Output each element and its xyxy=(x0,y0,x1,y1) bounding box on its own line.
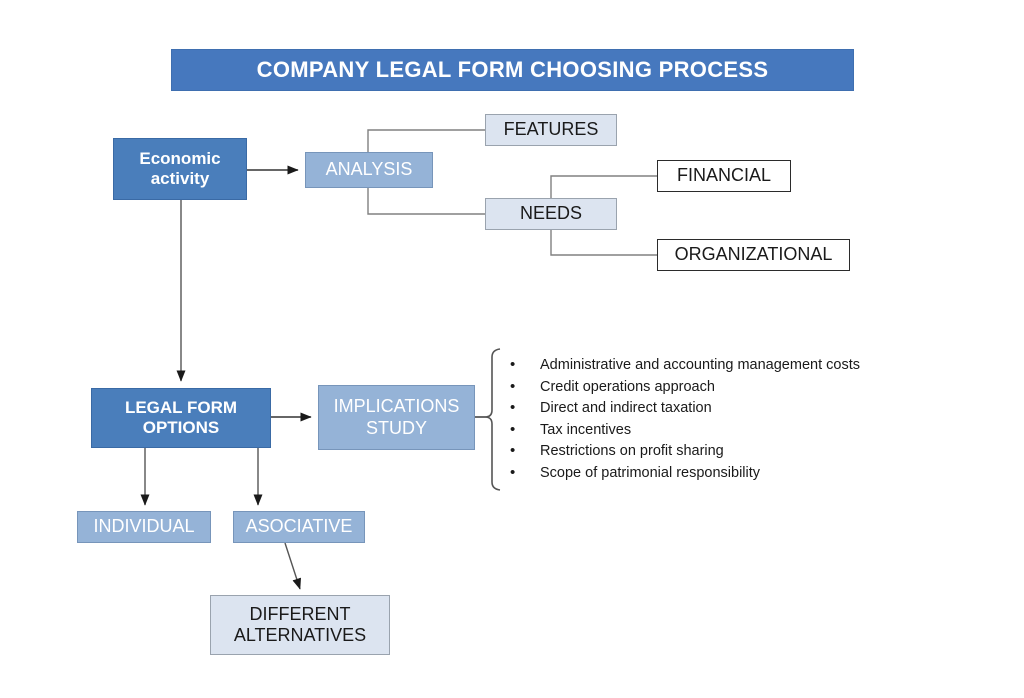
node-economic-activity-line1: Economic xyxy=(139,149,220,168)
wire-needs-to-organizational xyxy=(551,230,657,255)
wire-analysis-to-needs xyxy=(368,188,485,214)
node-different-alternatives-line2: ALTERNATIVES xyxy=(234,625,366,645)
implication-item: •Direct and indirect taxation xyxy=(510,400,930,422)
node-different-alternatives[interactable]: DIFFERENT ALTERNATIVES xyxy=(210,595,390,655)
implication-item-label: Scope of patrimonial responsibility xyxy=(540,465,760,481)
bullet-icon: • xyxy=(510,443,540,458)
node-analysis[interactable]: ANALYSIS xyxy=(305,152,433,188)
node-financial-label: FINANCIAL xyxy=(677,165,771,186)
implication-item-label: Tax incentives xyxy=(540,422,631,438)
node-asociative[interactable]: ASOCIATIVE xyxy=(233,511,365,543)
node-legal-form-options-line1: LEGAL FORM xyxy=(125,398,237,417)
node-legal-form-options[interactable]: LEGAL FORM OPTIONS xyxy=(91,388,271,448)
node-features[interactable]: FEATURES xyxy=(485,114,617,146)
node-implications-study[interactable]: IMPLICATIONS STUDY xyxy=(318,385,475,450)
implication-item-label: Restrictions on profit sharing xyxy=(540,443,724,459)
wire-analysis-to-features xyxy=(368,130,485,152)
implication-item-label: Direct and indirect taxation xyxy=(540,400,712,416)
wire-bracket-lower xyxy=(475,417,500,490)
implication-item: •Scope of patrimonial responsibility xyxy=(510,465,930,487)
node-needs[interactable]: NEEDS xyxy=(485,198,617,230)
node-economic-activity-label: Economic activity xyxy=(139,149,220,189)
node-organizational-label: ORGANIZATIONAL xyxy=(675,244,833,265)
node-financial[interactable]: FINANCIAL xyxy=(657,160,791,192)
node-economic-activity[interactable]: Economic activity xyxy=(113,138,247,200)
node-organizational[interactable]: ORGANIZATIONAL xyxy=(657,239,850,271)
node-implications-study-line1: IMPLICATIONS xyxy=(334,396,460,416)
node-asociative-label: ASOCIATIVE xyxy=(246,516,353,537)
diagram-canvas: COMPANY LEGAL FORM CHOOSING PROCESS Econ… xyxy=(0,0,1024,698)
node-analysis-label: ANALYSIS xyxy=(326,159,413,180)
implication-item: •Credit operations approach xyxy=(510,379,930,401)
wire-asociative-to-different xyxy=(285,543,300,589)
node-implications-study-line2: STUDY xyxy=(366,418,427,438)
node-legal-form-options-label: LEGAL FORM OPTIONS xyxy=(125,398,237,438)
node-needs-label: NEEDS xyxy=(520,203,582,224)
implication-item-label: Credit operations approach xyxy=(540,379,715,395)
node-implications-study-label: IMPLICATIONS STUDY xyxy=(334,396,460,438)
implications-bullet-list: •Administrative and accounting managemen… xyxy=(510,357,930,486)
wire-bracket-upper xyxy=(475,349,500,417)
wire-needs-to-financial xyxy=(551,176,657,198)
bullet-icon: • xyxy=(510,357,540,372)
implication-item: •Administrative and accounting managemen… xyxy=(510,357,930,379)
node-features-label: FEATURES xyxy=(504,119,599,140)
bullet-icon: • xyxy=(510,379,540,394)
implication-item-label: Administrative and accounting management… xyxy=(540,357,860,373)
bullet-icon: • xyxy=(510,400,540,415)
node-individual-label: INDIVIDUAL xyxy=(93,516,194,537)
bullet-icon: • xyxy=(510,465,540,480)
node-economic-activity-line2: activity xyxy=(151,169,210,188)
implication-item: •Restrictions on profit sharing xyxy=(510,443,930,465)
node-different-alternatives-label: DIFFERENT ALTERNATIVES xyxy=(234,604,366,646)
implication-item: •Tax incentives xyxy=(510,422,930,444)
node-legal-form-options-line2: OPTIONS xyxy=(143,418,220,437)
bullet-icon: • xyxy=(510,422,540,437)
diagram-title: COMPANY LEGAL FORM CHOOSING PROCESS xyxy=(171,49,854,91)
diagram-title-text: COMPANY LEGAL FORM CHOOSING PROCESS xyxy=(257,57,769,83)
node-individual[interactable]: INDIVIDUAL xyxy=(77,511,211,543)
node-different-alternatives-line1: DIFFERENT xyxy=(250,604,351,624)
connector-lines xyxy=(0,0,1024,698)
